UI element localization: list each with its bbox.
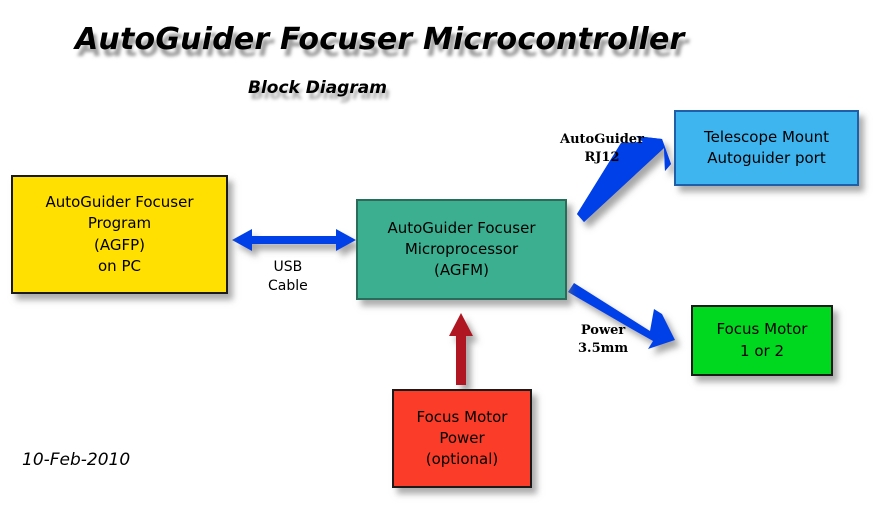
page-subtitle: Block Diagram: [248, 78, 387, 98]
block-line: Power: [439, 428, 484, 449]
telescope-mount-block[interactable]: Telescope Mount Autoguider port: [674, 110, 859, 186]
autoguider-rj12-label: AutoGuider RJ12: [560, 131, 644, 167]
block-line: (AGFP): [94, 235, 145, 256]
block-line: Program: [88, 213, 151, 234]
block-line: AutoGuider Focuser: [45, 192, 193, 213]
block-line: (AGFM): [434, 260, 489, 281]
block-line: (optional): [426, 449, 499, 470]
block-line: Autoguider port: [707, 148, 825, 169]
block-line: Telescope Mount: [704, 127, 829, 148]
focus-motor-block[interactable]: Focus Motor 1 or 2: [691, 305, 833, 376]
motor-power-feed-arrow: [449, 313, 473, 385]
power-3-5mm-label: Power 3.5mm: [578, 322, 628, 358]
usb-cable-label: USB Cable: [268, 258, 308, 297]
page-title: AutoGuider Focuser Microcontroller: [75, 22, 685, 57]
usb-cable-arrow: [232, 229, 356, 251]
focus-motor-power-block[interactable]: Focus Motor Power (optional): [392, 389, 532, 488]
autoguider-focuser-program-block[interactable]: AutoGuider Focuser Program (AGFP) on PC: [11, 175, 228, 294]
block-line: on PC: [98, 256, 141, 277]
date-stamp: 10-Feb-2010: [22, 450, 130, 470]
block-line: AutoGuider Focuser: [387, 218, 535, 239]
block-diagram-canvas: AutoGuider Focuser Microcontroller Block…: [0, 0, 883, 516]
autoguider-focuser-microprocessor-block[interactable]: AutoGuider Focuser Microprocessor (AGFM): [356, 199, 567, 300]
block-line: Focus Motor: [717, 319, 808, 340]
block-line: 1 or 2: [740, 341, 784, 362]
block-line: Microprocessor: [405, 239, 518, 260]
block-line: Focus Motor: [417, 407, 508, 428]
